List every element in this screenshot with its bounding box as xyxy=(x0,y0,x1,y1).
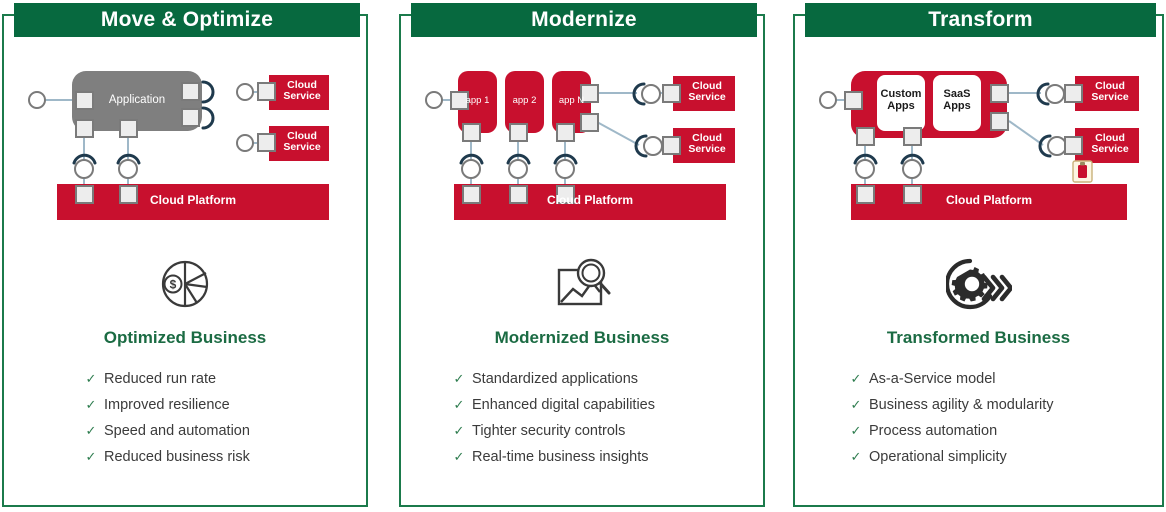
cloud-platform-bar xyxy=(851,184,1127,220)
list-item: ✓ Business agility & modularity xyxy=(843,397,1162,423)
list-item-label: Reduced business risk xyxy=(104,449,250,465)
list-item-label: As-a-Service model xyxy=(869,371,996,387)
three-panel-diagram: Move & Optimize xyxy=(0,0,1166,512)
cloud-platform-bar xyxy=(57,184,329,220)
panel-transform: Transform xyxy=(793,14,1164,507)
list-item: ✓ As-a-Service model xyxy=(843,371,1162,397)
list-item: ✓ Reduced business risk xyxy=(78,449,366,475)
check-icon: ✓ xyxy=(78,397,104,413)
list-item-label: Real-time business insights xyxy=(472,449,649,465)
check-icon: ✓ xyxy=(446,449,472,465)
list-item: ✓ Reduced run rate xyxy=(78,371,366,397)
check-icon: ✓ xyxy=(78,423,104,439)
diagram-svg xyxy=(401,16,767,246)
list-item-label: Standardized applications xyxy=(472,371,638,387)
saas-apps-block xyxy=(933,75,981,131)
check-icon: ✓ xyxy=(446,423,472,439)
benefit-list: ✓ As-a-Service model ✓ Business agility … xyxy=(795,371,1162,475)
architecture-diagram-modernize: app 1 app 2 app N Cloud Platform Cloud S… xyxy=(401,16,763,246)
list-item: ✓ Real-time business insights xyxy=(446,449,763,475)
list-item: ✓ Process automation xyxy=(843,423,1162,449)
image-search-icon xyxy=(551,256,613,312)
list-item-label: Reduced run rate xyxy=(104,371,216,387)
panel-modernize: Modernize xyxy=(399,14,765,507)
check-icon: ✓ xyxy=(843,423,869,439)
check-icon: ✓ xyxy=(843,371,869,387)
outcome-icon-wrap xyxy=(795,254,1162,314)
diagram-svg xyxy=(4,16,370,246)
outcome-icon-wrap: $ xyxy=(4,254,366,314)
benefit-list: ✓ Standardized applications ✓ Enhanced d… xyxy=(401,371,763,475)
list-item-label: Process automation xyxy=(869,423,997,439)
cloud-platform-bar xyxy=(454,184,726,220)
check-icon: ✓ xyxy=(843,397,869,413)
list-item: ✓ Improved resilience xyxy=(78,397,366,423)
outcome-title: Modernized Business xyxy=(401,328,763,348)
list-item-label: Tighter security controls xyxy=(472,423,625,439)
benefit-list: ✓ Reduced run rate ✓ Improved resilience… xyxy=(4,371,366,475)
cloud-service-box-2 xyxy=(1075,128,1139,163)
list-item-label: Improved resilience xyxy=(104,397,230,413)
check-icon: ✓ xyxy=(446,371,472,387)
cloud-service-box-1 xyxy=(1075,76,1139,111)
check-icon: ✓ xyxy=(78,371,104,387)
list-item: ✓ Operational simplicity xyxy=(843,449,1162,475)
panel-move-optimize: Move & Optimize xyxy=(2,14,368,507)
list-item: ✓ Standardized applications xyxy=(446,371,763,397)
outcome-title: Optimized Business xyxy=(4,328,366,348)
list-item: ✓ Tighter security controls xyxy=(446,423,763,449)
check-icon: ✓ xyxy=(446,397,472,413)
list-item-label: Enhanced digital capabilities xyxy=(472,397,655,413)
list-item-label: Operational simplicity xyxy=(869,449,1007,465)
check-icon: ✓ xyxy=(843,449,869,465)
list-item: ✓ Speed and automation xyxy=(78,423,366,449)
diagram-svg xyxy=(795,16,1166,246)
clipboard-paste-icon xyxy=(1073,161,1092,182)
architecture-diagram-transform: Custom Apps SaaS Apps Cloud Platform Clo… xyxy=(795,16,1162,246)
pie-chart-dollar-icon: $ xyxy=(157,256,213,312)
outcome-icon-wrap xyxy=(401,254,763,314)
list-item: ✓ Enhanced digital capabilities xyxy=(446,397,763,423)
cloud-service-box-1 xyxy=(673,76,735,111)
gear-chevrons-icon xyxy=(946,257,1012,311)
outcome-title: Transformed Business xyxy=(795,328,1162,348)
architecture-diagram-move-optimize: Application Cloud Platform Cloud Service… xyxy=(4,16,366,246)
cloud-service-box-2 xyxy=(269,126,329,161)
list-item-label: Speed and automation xyxy=(104,423,250,439)
check-icon: ✓ xyxy=(78,449,104,465)
svg-text:$: $ xyxy=(170,278,177,292)
cloud-service-box-1 xyxy=(269,75,329,110)
cloud-service-box-2 xyxy=(673,128,735,163)
custom-apps-block xyxy=(877,75,925,131)
list-item-label: Business agility & modularity xyxy=(869,397,1054,413)
